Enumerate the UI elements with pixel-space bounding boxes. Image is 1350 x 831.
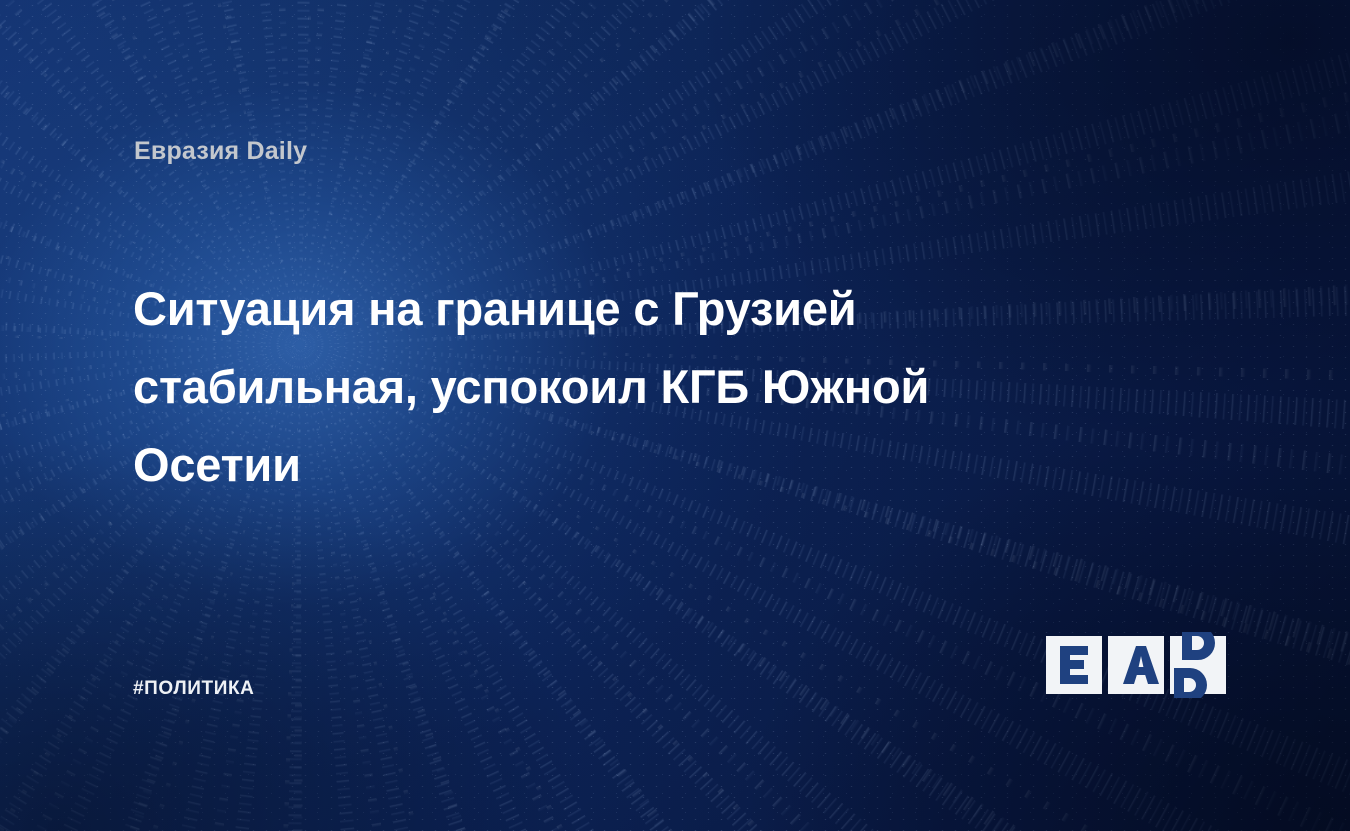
ead-logo[interactable] bbox=[1046, 632, 1226, 698]
headline: Ситуация на границе с Грузией стабильная… bbox=[133, 270, 1063, 504]
card-content: Евразия Daily Ситуация на границе с Груз… bbox=[0, 0, 1350, 831]
category-tag-politika[interactable]: #ПОЛИТИКА bbox=[133, 678, 255, 700]
news-card: Евразия Daily Ситуация на границе с Груз… bbox=[0, 0, 1350, 831]
brand-name: Евразия Daily bbox=[134, 137, 307, 166]
logo-letter-e bbox=[1060, 646, 1088, 684]
